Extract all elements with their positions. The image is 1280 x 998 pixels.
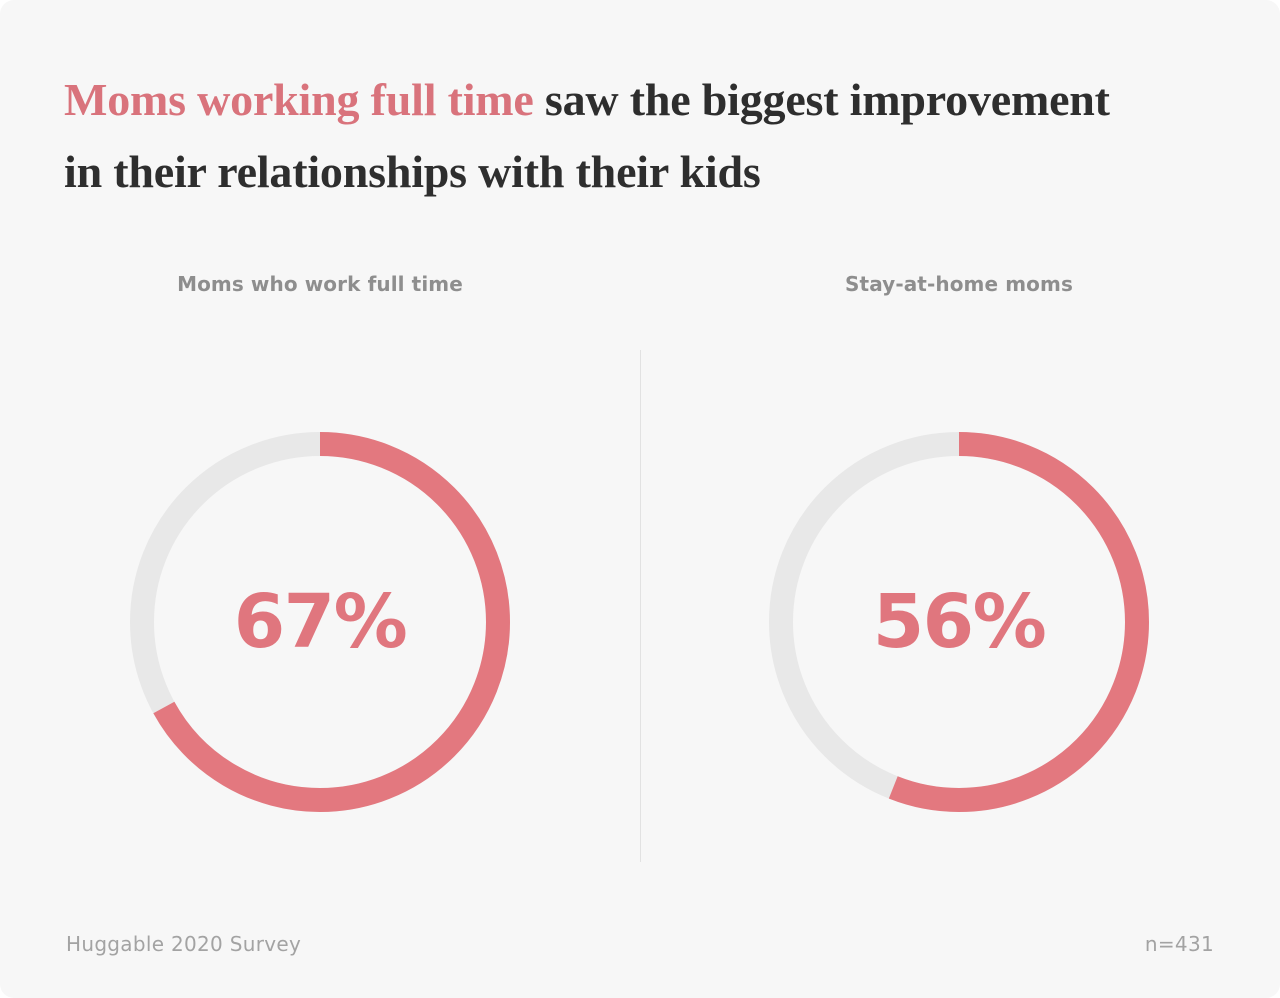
title-accent-phrase: Moms working full time: [64, 74, 534, 125]
footer-source: Huggable 2020 Survey: [66, 932, 301, 956]
footer: Huggable 2020 Survey n=431: [66, 932, 1214, 956]
infographic-canvas: Moms working full time saw the biggest i…: [0, 0, 1280, 998]
chart-label-stay-at-home-moms: Stay-at-home moms: [679, 270, 1239, 298]
panel-divider: [640, 350, 641, 862]
chart-panel-stay-at-home-moms: Stay-at-home moms 56%: [679, 270, 1239, 822]
footer-sample-size: n=431: [1145, 932, 1214, 956]
chart-label-working-moms: Moms who work full time: [40, 270, 600, 298]
donut-value-working-moms: 67%: [120, 422, 520, 822]
donut-chart-working-moms: 67%: [120, 422, 520, 822]
page-title: Moms working full time saw the biggest i…: [64, 64, 1234, 208]
donut-value-stay-at-home-moms: 56%: [759, 422, 1159, 822]
donut-chart-stay-at-home-moms: 56%: [759, 422, 1159, 822]
title-line-1-rest: saw the biggest improvement: [534, 74, 1110, 125]
title-line-2: in their relationships with their kids: [64, 136, 1234, 208]
chart-panel-working-moms: Moms who work full time 67%: [40, 270, 600, 822]
title-line-1: Moms working full time saw the biggest i…: [64, 64, 1234, 136]
